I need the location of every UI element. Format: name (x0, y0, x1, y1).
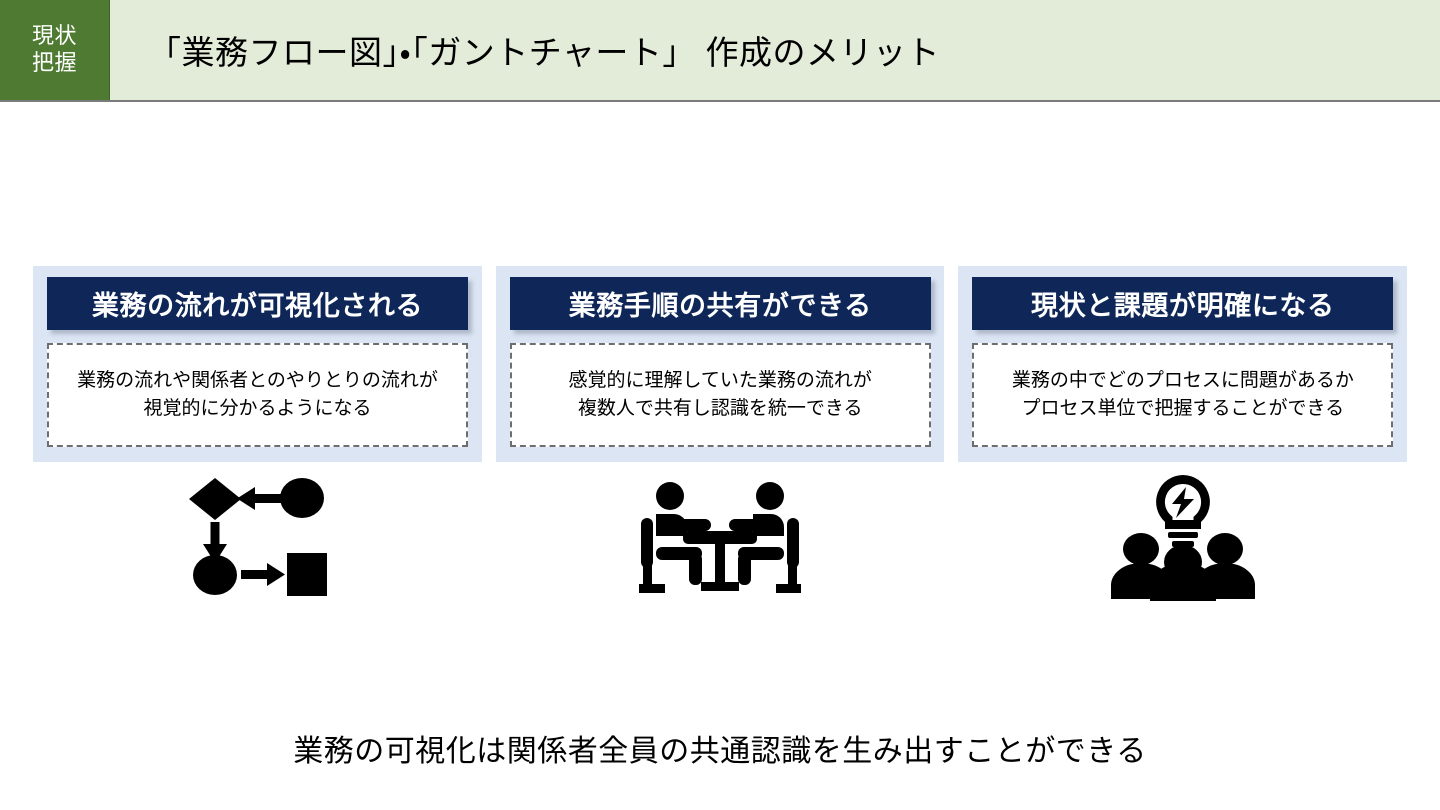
slide-title: 「業務フロー図」・「ガントチャート」 作成のメリット (110, 0, 1440, 100)
benefit-card-body-line2: 視覚的に分かるようになる (77, 395, 438, 423)
benefit-cards-row: 業務の流れが可視化される 業務の流れや関係者とのやりとりの流れが 視覚的に分かる… (33, 266, 1407, 462)
icon-cell-team-idea (958, 462, 1407, 612)
benefit-card-body-line2: 複数人で共有し認識を統一できる (568, 395, 871, 423)
team-lightbulb-idea-icon (1108, 473, 1258, 601)
section-tag-badge: 現状 把握 (0, 0, 110, 100)
benefit-card: 現状と課題が明確になる 業務の中でどのプロセスに問題があるか プロセス単位で把握… (958, 266, 1407, 462)
icon-cell-flowchart (33, 462, 482, 612)
benefit-card-body: 業務の中でどのプロセスに問題があるか プロセス単位で把握することができる (972, 343, 1393, 447)
meeting-two-people-table-icon (639, 481, 801, 593)
icon-cell-meeting (496, 462, 945, 612)
benefit-card-title: 業務の流れが可視化される (47, 277, 468, 330)
benefit-card: 業務の流れが可視化される 業務の流れや関係者とのやりとりの流れが 視覚的に分かる… (33, 266, 482, 462)
slide-header: 現状 把握 「業務フロー図」・「ガントチャート」 作成のメリット (0, 0, 1440, 102)
benefit-card-body: 業務の流れや関係者とのやりとりの流れが 視覚的に分かるようになる (47, 343, 468, 447)
benefit-card: 業務手順の共有ができる 感覚的に理解していた業務の流れが 複数人で共有し認識を統… (496, 266, 945, 462)
benefit-card-body-line2: プロセス単位で把握することができる (1012, 395, 1354, 423)
benefit-card-title: 現状と課題が明確になる (972, 277, 1393, 330)
benefit-card-title: 業務手順の共有ができる (510, 277, 931, 330)
benefit-card-body: 感覚的に理解していた業務の流れが 複数人で共有し認識を統一できる (510, 343, 931, 447)
benefit-icons-row (33, 462, 1407, 612)
benefit-card-body-line1: 感覚的に理解していた業務の流れが (568, 367, 871, 395)
section-tag-line2: 把握 (32, 50, 77, 77)
section-tag-line1: 現状 (32, 23, 77, 50)
benefit-card-body-line1: 業務の中でどのプロセスに問題があるか (1012, 367, 1354, 395)
benefit-card-body-line1: 業務の流れや関係者とのやりとりの流れが (77, 367, 438, 395)
summary-caption: 業務の可視化は関係者全員の共通認識を生み出すことができる (0, 726, 1440, 770)
flowchart-icon (187, 478, 327, 596)
